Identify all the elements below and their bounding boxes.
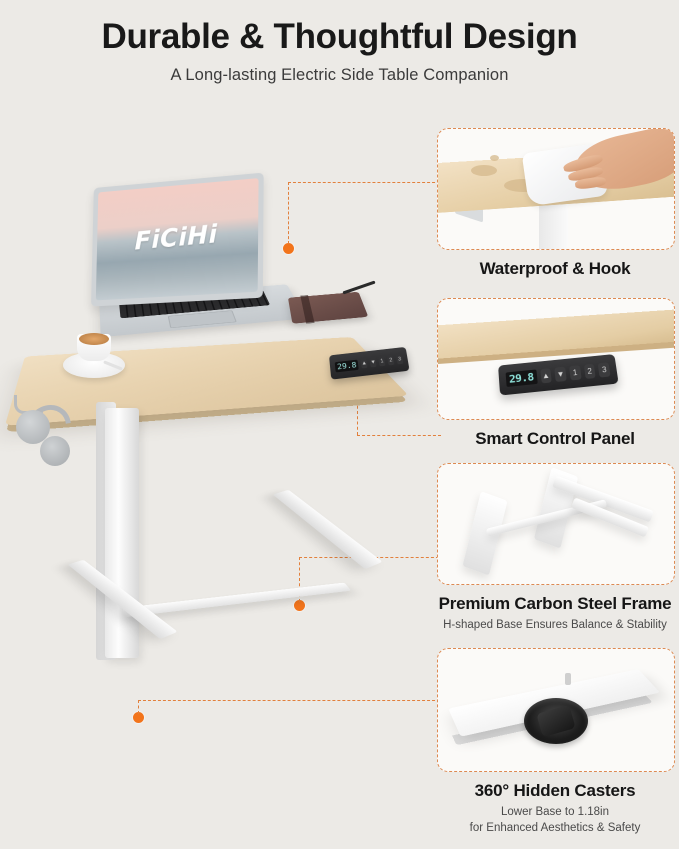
caster-pin: [565, 673, 571, 685]
control-preset-1[interactable]: 1: [569, 365, 581, 380]
headphone-earcup-right: [40, 436, 70, 466]
panel-art-control: 29.8 ▲ ▼ 1 2 3: [437, 298, 675, 420]
control-preset-2[interactable]: 2: [387, 356, 394, 366]
notebook: [290, 284, 364, 330]
panel-art-casters: [437, 648, 675, 772]
latte-art: [79, 333, 109, 345]
panel-art-waterproof: [437, 128, 675, 250]
coffee-cup: [63, 330, 125, 382]
feature-panel-frame: Premium Carbon Steel Frame H-shaped Base…: [437, 463, 673, 634]
page-subtitle: A Long-lasting Electric Side Table Compa…: [0, 66, 679, 85]
control-preset-3[interactable]: 3: [598, 362, 611, 377]
notebook-strap: [301, 295, 315, 323]
control-button-down[interactable]: ▼: [555, 367, 567, 382]
hero-product-image: FiCiHi 29.8 ▲ ▼ 1 2 3: [0, 180, 437, 800]
control-button-up[interactable]: ▲: [361, 359, 368, 369]
panel-subcaption-frame: H-shaped Base Ensures Balance & Stabilit…: [437, 618, 673, 634]
frame-foot-front: [463, 491, 508, 575]
panel-subcaption-casters: Lower Base to 1.18in for Enhanced Aesthe…: [437, 805, 673, 836]
caster-wheel-inner: [536, 705, 575, 737]
infographic-canvas: Durable & Thoughtful Design A Long-lasti…: [0, 0, 679, 849]
control-panel-illustration[interactable]: 29.8 ▲ ▼ 1 2 3: [498, 354, 619, 396]
control-display: 29.8: [335, 359, 359, 372]
control-preset-3[interactable]: 3: [396, 355, 403, 365]
control-preset-1[interactable]: 1: [378, 357, 385, 367]
panel-art-frame: [437, 463, 675, 585]
feature-panel-control: 29.8 ▲ ▼ 1 2 3 Smart Control Panel: [437, 298, 673, 449]
laptop: FiCiHi: [78, 180, 278, 355]
page-title: Durable & Thoughtful Design: [0, 18, 679, 57]
panel-caption-frame: Premium Carbon Steel Frame: [437, 594, 673, 614]
base-cross-bar: [123, 583, 351, 618]
water-droplet: [471, 165, 497, 176]
header-block: Durable & Thoughtful Design A Long-lasti…: [0, 18, 679, 85]
panel-subcaption-line-2: for Enhanced Aesthetics & Safety: [437, 821, 673, 837]
feature-panel-waterproof: Waterproof & Hook: [437, 128, 673, 279]
panel-subcaption-line-1: Lower Base to 1.18in: [437, 805, 673, 821]
feature-panel-casters: 360° Hidden Casters Lower Base to 1.18in…: [437, 648, 673, 836]
laptop-screen: FiCiHi: [96, 178, 259, 300]
control-preset-2[interactable]: 2: [584, 364, 596, 379]
base-foot-rear: [273, 490, 383, 569]
panel-caption-control: Smart Control Panel: [437, 429, 673, 449]
panel-caption-casters: 360° Hidden Casters: [437, 781, 673, 801]
lift-column: [105, 408, 139, 658]
panel-caption-waterproof: Waterproof & Hook: [437, 259, 673, 279]
control-button-down[interactable]: ▼: [370, 358, 377, 368]
desk-leg-illustration: [539, 201, 567, 249]
control-button-up[interactable]: ▲: [540, 368, 552, 383]
control-display: 29.8: [506, 370, 538, 387]
caster-wheel: [524, 698, 588, 744]
laptop-lid: FiCiHi: [91, 173, 264, 307]
notebook-cover: [288, 292, 368, 324]
brand-logo-text: FiCiHi: [97, 215, 258, 258]
